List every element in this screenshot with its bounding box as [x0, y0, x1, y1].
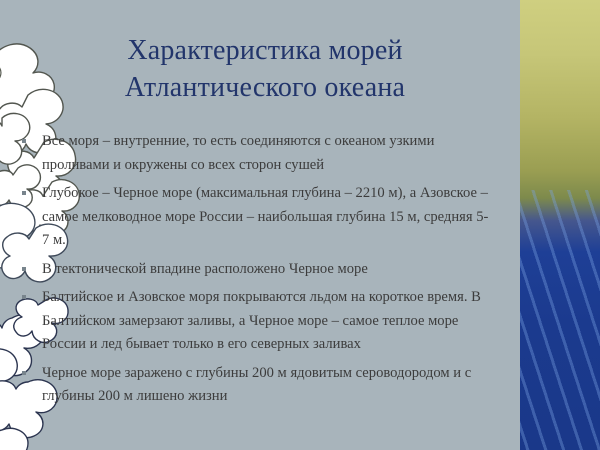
list-item-text: Балтийское и Азовское моря покрываются л…: [42, 286, 494, 357]
slide-title-line-1: Характеристика морей: [30, 32, 500, 69]
list-item: Глубокое – Черное море (максимальная глу…: [14, 182, 494, 253]
square-bullet-icon: [22, 191, 26, 195]
square-bullet-icon: [22, 267, 26, 271]
list-item: Все моря – внутренние, то есть соединяют…: [14, 130, 494, 177]
list-item-text: В тектонической впадине расположено Черн…: [42, 258, 494, 282]
list-item: Черное море заражено с глубины 200 м ядо…: [14, 362, 494, 409]
wave-decoration-panel: [520, 0, 600, 450]
upper-wave-tendrils: [0, 50, 1, 242]
list-item: Балтийское и Азовское моря покрываются л…: [14, 286, 494, 357]
square-bullet-icon: [22, 371, 26, 375]
slide-title: Характеристика морей Атлантического океа…: [30, 32, 500, 106]
list-item-text: Глубокое – Черное море (максимальная глу…: [42, 182, 494, 253]
list-item-text: Черное море заражено с глубины 200 м ядо…: [42, 362, 494, 409]
wave-streak-texture: [520, 190, 600, 450]
slide-title-line-2: Атлантического океана: [30, 69, 500, 106]
square-bullet-icon: [22, 295, 26, 299]
list-item: В тектонической впадине расположено Черн…: [14, 258, 494, 282]
bullet-list: Все моря – внутренние, то есть соединяют…: [14, 130, 494, 414]
presentation-slide: Характеристика морей Атлантического океа…: [0, 0, 600, 450]
square-bullet-icon: [22, 139, 26, 143]
list-item-text: Все моря – внутренние, то есть соединяют…: [42, 130, 494, 177]
